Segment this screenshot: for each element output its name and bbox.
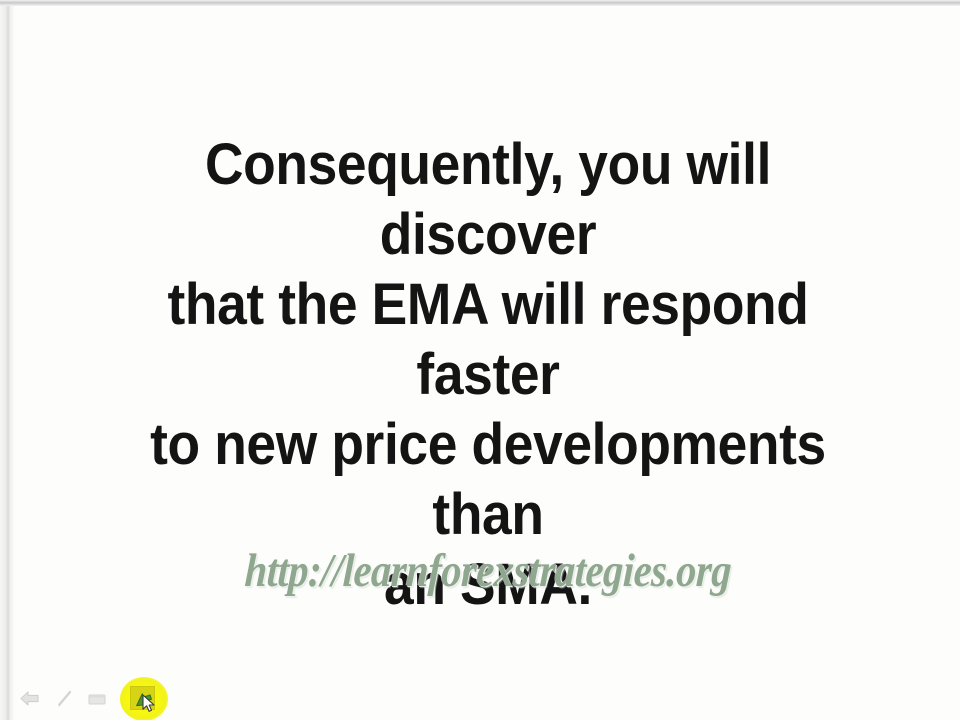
back-arrow-button[interactable] [16,685,44,713]
back-arrow-icon [19,689,41,709]
mouse-pointer-cursor [142,694,158,714]
annotation-toolbar [10,678,216,720]
site-url-text: http://learnforexstrategies.org [119,544,858,598]
window-left-frame [0,6,14,720]
slide-canvas: Consequently, you will discover that the… [14,6,960,720]
presentation-viewer: Consequently, you will discover that the… [0,0,960,720]
screen-icon [87,690,109,708]
screen-button[interactable] [84,685,112,713]
pen-icon [53,688,75,710]
pen-button[interactable] [50,685,78,713]
advance-arrow-button[interactable] [118,678,170,720]
